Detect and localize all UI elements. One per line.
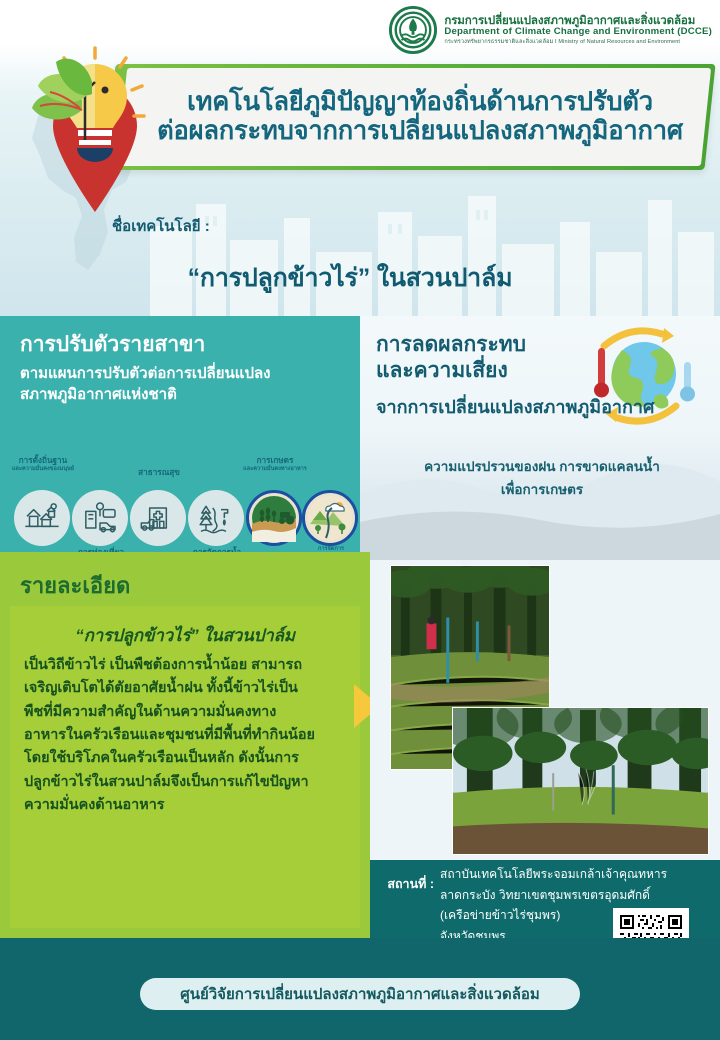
mitigation-title: การลดผลกระทบ และความเสี่ยง [376, 332, 596, 383]
org-name-en: Department of Climate Change and Environ… [444, 27, 712, 38]
poster-root: กรมการเปลี่ยนแปลงสภาพภูมิอากาศและสิ่งแวด… [0, 0, 720, 1040]
sector-adaptation-panel: การปรับตัวรายสาขา ตามแผนการปรับตัวต่อการ… [0, 316, 360, 560]
page-title: เทคโนโลยีภูมิปัญญาท้องถิ่นด้านการปรับตัว… [140, 70, 700, 164]
detail-body-line-4: โดยใช้บริโภคในครัวเรือนเป็นหลัก ดังนั้นก… [24, 747, 350, 770]
sector-item-agriculture-caption: การเกษตร และความมั่นคงทางอาหาร [232, 456, 318, 472]
sector-item-agriculture[interactable]: การเกษตร และความมั่นคงทางอาหาร [246, 490, 304, 546]
detail-body-line-2: พืชที่มีความสำคัญในด้านความมั่นคงทาง [24, 701, 350, 724]
detail-body-line-1: เจริญเติบโตได้ตัยอาศัยน้ำฝน ทั้งนี้ข้าวไ… [24, 677, 350, 700]
mitigation-title-line-2: และความเสี่ยง [376, 358, 596, 384]
sector-icon-row: การตั้งถิ่นฐาน และความมั่นคงของมนุษย์ [6, 460, 358, 556]
mitigation-subtitle: จากการเปลี่ยนแปลงสภาพภูมิอากาศ [376, 396, 706, 419]
water-management-river-tap-icon [188, 490, 244, 546]
detail-heading: รายละเอียด [20, 568, 130, 603]
sector-subtitle-line-2: สภาพภูมิอากาศแห่งชาติ [20, 385, 355, 406]
photo-area [370, 560, 720, 860]
sector-item-public-health[interactable]: สาธารณสุข [130, 490, 188, 546]
mitigation-body-line-1: ความแปรปรวนของฝน การขาดแคลนน้ำ [374, 456, 710, 479]
footer-pill: ศูนย์วิจัยการเปลี่ยนแปลงสภาพภูมิอากาศและ… [140, 978, 580, 1010]
sector-subtitle-line-1: ตามแผนการปรับตัวต่อการเปลี่ยนแปลง [20, 364, 355, 385]
title-line-2: ต่อผลกระทบจากการเปลี่ยนแปลงสภาพภูมิอากาศ [157, 117, 683, 146]
footer-text: ศูนย์วิจัยการเปลี่ยนแปลงสภาพภูมิอากาศและ… [180, 982, 540, 1006]
sector-title: การปรับตัวรายสาขา [20, 332, 350, 357]
sector-item-public-health-caption: สาธารณสุข [116, 468, 202, 478]
detail-lead: “การปลูกข้าวไร่” ในสวนปาล์ม [24, 622, 346, 649]
organization-logo: กรมการเปลี่ยนแปลงสภาพภูมิอากาศและสิ่งแวด… [389, 6, 712, 54]
sector-item-water-management[interactable]: การจัดการน้ำ [188, 490, 246, 546]
public-health-hospital-icon [130, 490, 186, 546]
detail-body-line-6: ความมั่นคงด้านอาหาร [24, 794, 350, 817]
natural-resources-mountain-icon [302, 490, 358, 546]
palm-plantation-irrigation-photo [452, 707, 709, 855]
location-label: สถานที่ : [370, 874, 434, 894]
mitigation-title-line-1: การลดผลกระทบ [376, 332, 596, 358]
header-band: กรมการเปลี่ยนแปลงสภาพภูมิอากาศและสิ่งแวด… [0, 0, 720, 316]
technology-name: “การปลูกข้าวไร่” ในสวนปาล์ม [0, 258, 700, 298]
detail-body-line-0: เป็นวิถีข้าวไร่ เป็นพืชต้องการน้ำน้อย สา… [24, 654, 350, 677]
location-line-0: สถาบันเทคโนโลยีพระจอมเกล้าเจ้าคุณทหาร [440, 864, 720, 885]
dcce-emblem-icon [389, 6, 437, 54]
mitigation-body: ความแปรปรวนของฝน การขาดแคลนน้ำ เพื่อการเ… [374, 456, 710, 502]
tourism-city-car-icon [72, 490, 128, 546]
location-line-1: ลาดกระบัง วิทยาเขตชุมพรเขตรอุดมศักดิ์ [440, 885, 720, 906]
technology-label: ชื่อเทคโนโลยี : [112, 214, 210, 238]
title-line-1: เทคโนโลยีภูมิปัญญาท้องถิ่นด้านการปรับตัว [187, 88, 653, 117]
sector-subtitle: ตามแผนการปรับตัวต่อการเปลี่ยนแปลง สภาพภู… [20, 364, 355, 405]
detail-body-line-5: ปลูกข้าวไร่ในสวนปาล์มจึงเป็นการแก้ไขปัญห… [24, 771, 350, 794]
settlement-houses-icon [14, 490, 70, 546]
mitigation-panel: การลดผลกระทบ และความเสี่ยง จากการเปลี่ยน… [360, 316, 720, 560]
detail-body-line-3: อาหารในครัวเรือนและชุมชนที่มีพื้นที่ทำกิ… [24, 724, 350, 747]
detail-card: “การปลูกข้าวไร่” ในสวนปาล์ม เป็นวิถีข้าว… [10, 606, 360, 928]
detail-body: เป็นวิถีข้าวไร่ เป็นพืชต้องการน้ำน้อย สา… [24, 654, 350, 817]
detail-panel: รายละเอียด “การปลูกข้าวไร่” ในสวนปาล์ม เ… [0, 560, 370, 938]
org-ministry: กระทรวงทรัพยากรธรรมชาติและสิ่งแวดล้อม I … [444, 39, 712, 45]
mitigation-body-line-2: เพื่อการเกษตร [374, 479, 710, 502]
sector-item-tourism[interactable]: การท่องเที่ยว [72, 490, 130, 546]
agriculture-wheat-tractor-icon [246, 490, 302, 546]
sector-item-natural-resources[interactable]: การจัดการ ทรัพยากรธรรมชาติ [302, 490, 360, 546]
sector-item-settlement[interactable]: การตั้งถิ่นฐาน และความมั่นคงของมนุษย์ [14, 490, 72, 546]
sector-item-settlement-caption: การตั้งถิ่นฐาน และความมั่นคงของมนุษย์ [0, 456, 86, 472]
lightbulb-leaf-pin-icon [20, 42, 170, 222]
